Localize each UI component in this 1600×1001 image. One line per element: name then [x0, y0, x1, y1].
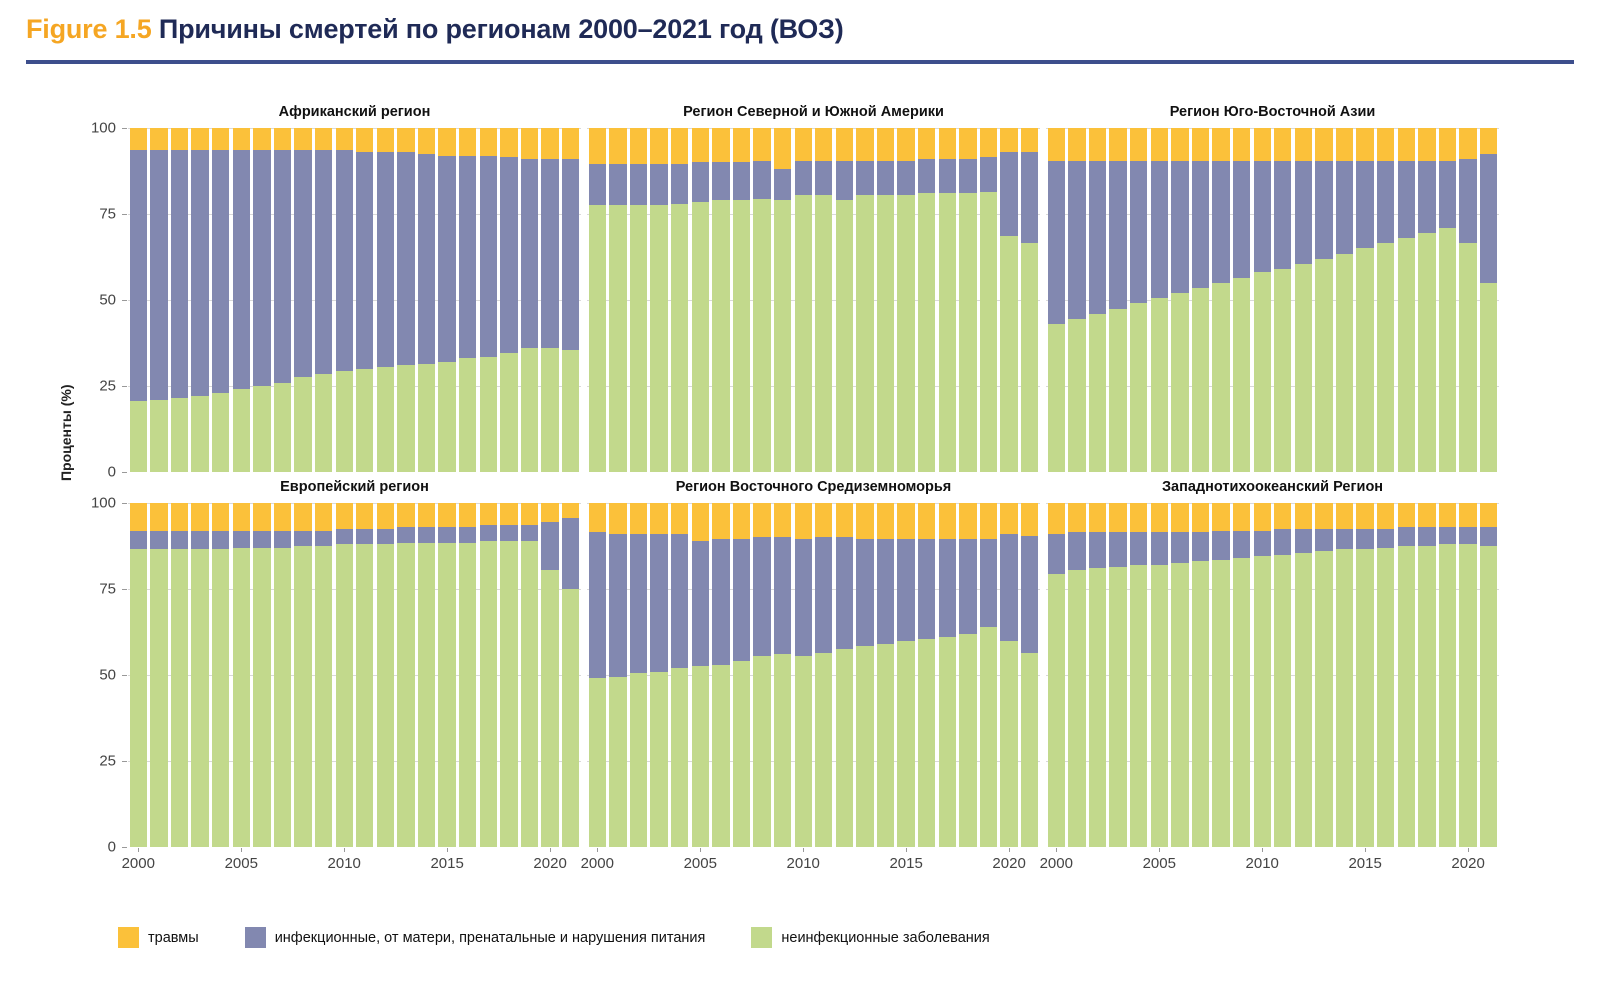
bar-segment-noncommunicable [1021, 243, 1038, 472]
bar-segment-noncommunicable [856, 646, 873, 847]
bar-segment-noncommunicable [1480, 283, 1497, 472]
x-tick-label: 2015 [1348, 855, 1381, 872]
stacked-bar[interactable] [562, 503, 579, 847]
bar-segment-communicable [1418, 161, 1435, 233]
bar-segment-noncommunicable [418, 543, 435, 847]
panel-2: Регион Юго-Восточной Азии [1046, 128, 1499, 472]
stacked-bar[interactable] [1418, 503, 1435, 847]
stacked-bar[interactable] [377, 128, 394, 472]
stacked-bar[interactable] [1048, 128, 1065, 472]
bar-segment-noncommunicable [459, 358, 476, 472]
stacked-bar[interactable] [130, 503, 147, 847]
bar-segment-communicable [1068, 532, 1085, 570]
bar-segment-injuries [500, 128, 517, 157]
stacked-bar[interactable] [815, 128, 832, 472]
x-tick-mark [344, 848, 345, 852]
y-tick-label: 75 [99, 206, 116, 223]
bar-segment-injuries [1000, 503, 1017, 534]
bar-segment-communicable [1439, 161, 1456, 228]
stacked-bar[interactable] [815, 503, 832, 847]
stacked-bar[interactable] [671, 128, 688, 472]
bar-segment-injuries [1048, 503, 1065, 534]
bar-segment-injuries [1315, 503, 1332, 529]
stacked-bar[interactable] [1356, 128, 1373, 472]
legend-item-injuries[interactable]: травмы [118, 927, 199, 948]
stacked-bar[interactable] [253, 128, 270, 472]
bar-segment-injuries [897, 503, 914, 539]
bar-segment-injuries [1377, 503, 1394, 529]
bar-segment-injuries [150, 128, 167, 150]
bar-segment-noncommunicable [1089, 568, 1106, 847]
stacked-bar[interactable] [609, 503, 626, 847]
x-tick-mark [1468, 848, 1469, 852]
bar-segment-communicable [1109, 532, 1126, 566]
bar-segment-injuries [692, 128, 709, 162]
stacked-bar[interactable] [1377, 128, 1394, 472]
y-tick-mark [122, 214, 127, 215]
stacked-bar[interactable] [671, 503, 688, 847]
bar-segment-noncommunicable [836, 200, 853, 472]
bar-segment-noncommunicable [1192, 288, 1209, 472]
bar-segment-injuries [712, 503, 729, 539]
bar-segment-injuries [1356, 503, 1373, 529]
stacked-bar[interactable] [1398, 503, 1415, 847]
bar-segment-communicable [212, 150, 229, 393]
bar-segment-communicable [650, 164, 667, 205]
bar-segment-noncommunicable [1336, 254, 1353, 472]
stacked-bar[interactable] [836, 503, 853, 847]
stacked-bar[interactable] [541, 503, 558, 847]
stacked-bar[interactable] [1109, 128, 1126, 472]
stacked-bar[interactable] [1109, 503, 1126, 847]
bar-segment-noncommunicable [918, 193, 935, 472]
bar-segment-communicable [897, 161, 914, 195]
bar-segment-injuries [1459, 128, 1476, 159]
bar-segment-noncommunicable [959, 193, 976, 472]
bar-segment-injuries [1048, 128, 1065, 161]
stacked-bar[interactable] [480, 128, 497, 472]
stacked-bar[interactable] [1171, 503, 1188, 847]
stacked-bar[interactable] [650, 128, 667, 472]
stacked-bar[interactable] [1212, 128, 1229, 472]
stacked-bar[interactable] [1480, 128, 1497, 472]
bar-segment-noncommunicable [397, 543, 414, 847]
stacked-bar[interactable] [233, 503, 250, 847]
bar-segment-communicable [500, 525, 517, 540]
bar-segment-injuries [1171, 503, 1188, 532]
stacked-bar[interactable] [1274, 128, 1291, 472]
stacked-bar[interactable] [1021, 503, 1038, 847]
x-tick-mark [1159, 848, 1160, 852]
bar-segment-communicable [1315, 161, 1332, 259]
bar-segment-injuries [274, 128, 291, 150]
bar-segment-communicable [1356, 529, 1373, 550]
bar-segment-communicable [877, 539, 894, 644]
stacked-bar[interactable] [589, 128, 606, 472]
bar-segment-injuries [438, 128, 455, 156]
stacked-bar[interactable] [1000, 503, 1017, 847]
bar-segment-communicable [1151, 532, 1168, 565]
bar-segment-communicable [212, 531, 229, 550]
stacked-bar[interactable] [212, 128, 229, 472]
bar-segment-noncommunicable [1315, 551, 1332, 847]
bar-segment-communicable [630, 534, 647, 673]
legend-item-communicable[interactable]: инфекционные, от матери, пренатальные и … [245, 927, 706, 948]
bar-segment-communicable [521, 159, 538, 348]
stacked-bar[interactable] [459, 503, 476, 847]
stacked-bar[interactable] [1068, 128, 1085, 472]
bar-segment-communicable [130, 531, 147, 550]
bar-segment-injuries [671, 128, 688, 164]
stacked-bar[interactable] [336, 128, 353, 472]
bar-segment-communicable [418, 154, 435, 364]
bar-segment-injuries [1192, 503, 1209, 532]
x-tick-label: 2015 [889, 855, 922, 872]
stacked-bar[interactable] [712, 128, 729, 472]
x-tick-mark [550, 848, 551, 852]
stacked-bar[interactable] [877, 503, 894, 847]
bar-segment-injuries [733, 128, 750, 162]
stacked-bar[interactable] [1151, 503, 1168, 847]
bar-segment-communicable [815, 161, 832, 195]
stacked-bar[interactable] [438, 503, 455, 847]
stacked-bar[interactable] [589, 503, 606, 847]
stacked-bar[interactable] [191, 128, 208, 472]
x-tick-mark [138, 848, 139, 852]
stacked-bar[interactable] [897, 503, 914, 847]
stacked-bar[interactable] [171, 128, 188, 472]
bar-segment-noncommunicable [589, 678, 606, 847]
stacked-bar[interactable] [1000, 128, 1017, 472]
stacked-bar[interactable] [500, 128, 517, 472]
bar-segment-injuries [877, 128, 894, 161]
bar-segment-injuries [650, 503, 667, 534]
stacked-bar[interactable] [1089, 128, 1106, 472]
stacked-bar[interactable] [521, 503, 538, 847]
bar-segment-noncommunicable [753, 199, 770, 472]
stacked-bar[interactable] [562, 128, 579, 472]
bar-segment-injuries [541, 128, 558, 159]
stacked-bar[interactable] [959, 503, 976, 847]
bar-segment-injuries [959, 128, 976, 159]
stacked-bar[interactable] [753, 128, 770, 472]
bar-segment-injuries [1151, 503, 1168, 532]
bar-segment-communicable [1336, 529, 1353, 550]
stacked-bar[interactable] [1089, 503, 1106, 847]
bar-segment-communicable [1356, 161, 1373, 249]
bar-segment-injuries [630, 503, 647, 534]
stacked-bar[interactable] [212, 503, 229, 847]
stacked-bar[interactable] [1418, 128, 1435, 472]
stacked-bar[interactable] [733, 128, 750, 472]
stacked-bar[interactable] [1192, 503, 1209, 847]
stacked-bar[interactable] [795, 128, 812, 472]
stacked-bar[interactable] [1048, 503, 1065, 847]
stacked-bar[interactable] [521, 128, 538, 472]
y-tick-label: 0 [108, 839, 116, 856]
bar-segment-communicable [815, 537, 832, 652]
stacked-bar[interactable] [480, 503, 497, 847]
stacked-bar[interactable] [500, 503, 517, 847]
bar-segment-noncommunicable [1356, 248, 1373, 472]
bar-segment-communicable [1089, 161, 1106, 314]
bar-segment-noncommunicable [521, 348, 538, 472]
stacked-bar[interactable] [418, 503, 435, 847]
bar-segment-communicable [939, 159, 956, 193]
bar-segment-communicable [1274, 161, 1291, 269]
bar-segment-communicable [315, 531, 332, 546]
stacked-bar[interactable] [418, 128, 435, 472]
bar-segment-communicable [774, 537, 791, 654]
bar-segment-noncommunicable [438, 362, 455, 472]
bar-segment-communicable [171, 531, 188, 550]
stacked-bar[interactable] [1336, 503, 1353, 847]
bar-segment-communicable [274, 150, 291, 382]
panel-title: Европейский регион [128, 479, 581, 495]
bar-segment-communicable [609, 534, 626, 677]
stacked-bar[interactable] [980, 503, 997, 847]
stacked-bar[interactable] [1068, 503, 1085, 847]
bar-segment-injuries [1274, 503, 1291, 529]
stacked-bar[interactable] [1130, 128, 1147, 472]
stacked-bar[interactable] [959, 128, 976, 472]
bar-segment-communicable [712, 162, 729, 200]
bar-segment-injuries [1356, 128, 1373, 161]
stacked-bar[interactable] [692, 128, 709, 472]
bar-segment-communicable [959, 539, 976, 634]
stacked-bar[interactable] [356, 503, 373, 847]
stacked-bar[interactable] [733, 503, 750, 847]
bar-segment-injuries [980, 128, 997, 157]
stacked-bar[interactable] [939, 503, 956, 847]
bar-segment-injuries [815, 128, 832, 161]
bar-segment-injuries [191, 503, 208, 531]
bar-segment-noncommunicable [315, 546, 332, 847]
stacked-bar[interactable] [877, 128, 894, 472]
bar-segment-communicable [315, 150, 332, 374]
bar-segment-noncommunicable [1439, 228, 1456, 472]
stacked-bar[interactable] [609, 128, 626, 472]
bar-segment-injuries [959, 503, 976, 539]
bar-segment-communicable [562, 159, 579, 350]
stacked-bar[interactable] [1480, 503, 1497, 847]
stacked-bar[interactable] [712, 503, 729, 847]
stacked-bar[interactable] [1130, 503, 1147, 847]
bar-segment-injuries [1089, 503, 1106, 532]
bar-segment-communicable [1109, 161, 1126, 309]
stacked-bar[interactable] [774, 128, 791, 472]
stacked-bar[interactable] [541, 128, 558, 472]
bar-segment-noncommunicable [980, 627, 997, 847]
bar-segment-noncommunicable [589, 205, 606, 472]
stacked-bar[interactable] [856, 503, 873, 847]
stacked-bar[interactable] [1459, 128, 1476, 472]
stacked-bar[interactable] [939, 128, 956, 472]
bar-segment-injuries [1398, 503, 1415, 527]
bar-segment-communicable [191, 531, 208, 550]
stacked-bar[interactable] [336, 503, 353, 847]
bar-segment-communicable [377, 152, 394, 367]
stacked-bar[interactable] [774, 503, 791, 847]
bar-segment-communicable [1130, 161, 1147, 304]
stacked-bar[interactable] [650, 503, 667, 847]
bar-segment-injuries [1418, 128, 1435, 161]
bar-segment-noncommunicable [336, 544, 353, 847]
bar-segment-noncommunicable [1192, 561, 1209, 847]
bar-segment-injuries [336, 503, 353, 529]
stacked-bar[interactable] [630, 128, 647, 472]
stacked-bar[interactable] [356, 128, 373, 472]
bar-segment-noncommunicable [815, 653, 832, 847]
bar-segment-noncommunicable [1089, 314, 1106, 472]
x-tick-label: 2005 [225, 855, 258, 872]
bar-segment-noncommunicable [1171, 563, 1188, 847]
stacked-bar[interactable] [1233, 128, 1250, 472]
stacked-bar[interactable] [1295, 503, 1312, 847]
stacked-bar[interactable] [1439, 503, 1456, 847]
stacked-bar[interactable] [438, 128, 455, 472]
bar-segment-noncommunicable [1171, 293, 1188, 472]
stacked-bar[interactable] [1336, 128, 1353, 472]
stacked-bar[interactable] [191, 503, 208, 847]
bar-segment-injuries [459, 128, 476, 156]
bar-segment-noncommunicable [1254, 556, 1271, 847]
bar-segment-communicable [397, 152, 414, 365]
stacked-bar[interactable] [836, 128, 853, 472]
bar-segment-noncommunicable [815, 195, 832, 472]
bar-segment-injuries [939, 128, 956, 159]
stacked-bar[interactable] [1295, 128, 1312, 472]
bar-segment-noncommunicable [1274, 555, 1291, 847]
stacked-bar[interactable] [1192, 128, 1209, 472]
bar-segment-noncommunicable [1356, 549, 1373, 847]
stacked-bar[interactable] [856, 128, 873, 472]
stacked-bar[interactable] [274, 503, 291, 847]
stacked-bar[interactable] [130, 128, 147, 472]
bar-segment-communicable [980, 157, 997, 191]
stacked-bar[interactable] [1151, 128, 1168, 472]
bar-segment-communicable [1377, 529, 1394, 548]
bar-segment-noncommunicable [692, 666, 709, 847]
stacked-bar[interactable] [1212, 503, 1229, 847]
x-tick-mark [1262, 848, 1263, 852]
stacked-bar[interactable] [753, 503, 770, 847]
stacked-bar[interactable] [1377, 503, 1394, 847]
bar-segment-noncommunicable [1233, 278, 1250, 472]
legend-item-noncommunicable[interactable]: неинфекционные заболевания [751, 927, 989, 948]
panel-4: Регион Восточного Средиземноморья [587, 503, 1040, 847]
stacked-bar[interactable] [918, 503, 935, 847]
bar-segment-noncommunicable [253, 386, 270, 472]
x-tick-label: 2000 [122, 855, 155, 872]
figure-title-text: Причины смертей по регионам 2000–2021 го… [159, 14, 844, 44]
stacked-bar[interactable] [630, 503, 647, 847]
bar-segment-noncommunicable [562, 350, 579, 472]
panel-title: Регион Восточного Средиземноморья [587, 479, 1040, 495]
bar-segment-injuries [795, 128, 812, 161]
stacked-bar[interactable] [253, 503, 270, 847]
stacked-bar[interactable] [1254, 503, 1271, 847]
stacked-bar[interactable] [1439, 128, 1456, 472]
bar-segment-communicable [918, 159, 935, 193]
stacked-bar[interactable] [150, 503, 167, 847]
bar-segment-communicable [897, 539, 914, 640]
stacked-bar[interactable] [150, 128, 167, 472]
stacked-bar[interactable] [1459, 503, 1476, 847]
bar-segment-noncommunicable [1000, 236, 1017, 472]
stacked-bar[interactable] [1171, 128, 1188, 472]
stacked-bar[interactable] [1356, 503, 1373, 847]
stacked-bar[interactable] [918, 128, 935, 472]
stacked-bar[interactable] [980, 128, 997, 472]
bar-segment-communicable [1021, 152, 1038, 243]
stacked-bar[interactable] [397, 503, 414, 847]
stacked-bar[interactable] [1315, 503, 1332, 847]
stacked-bar[interactable] [1233, 503, 1250, 847]
bar-segment-noncommunicable [795, 656, 812, 847]
bar-segment-noncommunicable [397, 365, 414, 472]
bar-segment-noncommunicable [212, 393, 229, 472]
stacked-bar[interactable] [294, 128, 311, 472]
bar-segment-injuries [356, 128, 373, 152]
stacked-bar[interactable] [171, 503, 188, 847]
bar-segment-injuries [589, 128, 606, 164]
bar-segment-injuries [1315, 128, 1332, 161]
stacked-bar[interactable] [294, 503, 311, 847]
bar-segment-communicable [1192, 532, 1209, 561]
y-tick-mark [122, 300, 127, 301]
bar-segment-communicable [1398, 527, 1415, 546]
stacked-bar[interactable] [274, 128, 291, 472]
stacked-bar[interactable] [459, 128, 476, 472]
stacked-bar[interactable] [315, 503, 332, 847]
stacked-bar[interactable] [1254, 128, 1271, 472]
panel-0: Африканский регион [128, 128, 581, 472]
stacked-bar[interactable] [897, 128, 914, 472]
stacked-bar[interactable] [795, 503, 812, 847]
stacked-bar[interactable] [1274, 503, 1291, 847]
bar-segment-noncommunicable [1459, 544, 1476, 847]
stacked-bar[interactable] [692, 503, 709, 847]
stacked-bar[interactable] [1021, 128, 1038, 472]
stacked-bar[interactable] [1398, 128, 1415, 472]
plot-area [1046, 503, 1499, 847]
bar-segment-noncommunicable [1398, 546, 1415, 847]
x-tick-label: 2010 [1246, 855, 1279, 872]
stacked-bar[interactable] [1315, 128, 1332, 472]
bar-segment-noncommunicable [609, 205, 626, 472]
bar-segment-noncommunicable [1315, 259, 1332, 472]
bar-segment-injuries [274, 503, 291, 531]
bar-segment-noncommunicable [939, 637, 956, 847]
bar-segment-noncommunicable [377, 367, 394, 472]
y-axis-label: Проценты (%) [58, 261, 74, 481]
stacked-bar[interactable] [397, 128, 414, 472]
stacked-bar[interactable] [315, 128, 332, 472]
x-tick-label: 2015 [430, 855, 463, 872]
stacked-bar[interactable] [377, 503, 394, 847]
bar-segment-communicable [1274, 529, 1291, 555]
bar-segment-injuries [1336, 503, 1353, 529]
bar-segment-noncommunicable [171, 398, 188, 472]
bar-segment-communicable [1480, 154, 1497, 283]
x-tick-mark [1056, 848, 1057, 852]
stacked-bar[interactable] [233, 128, 250, 472]
bar-segment-noncommunicable [274, 548, 291, 847]
bar-segment-communicable [480, 525, 497, 540]
bar-segment-noncommunicable [1336, 549, 1353, 847]
bar-segment-noncommunicable [294, 377, 311, 472]
